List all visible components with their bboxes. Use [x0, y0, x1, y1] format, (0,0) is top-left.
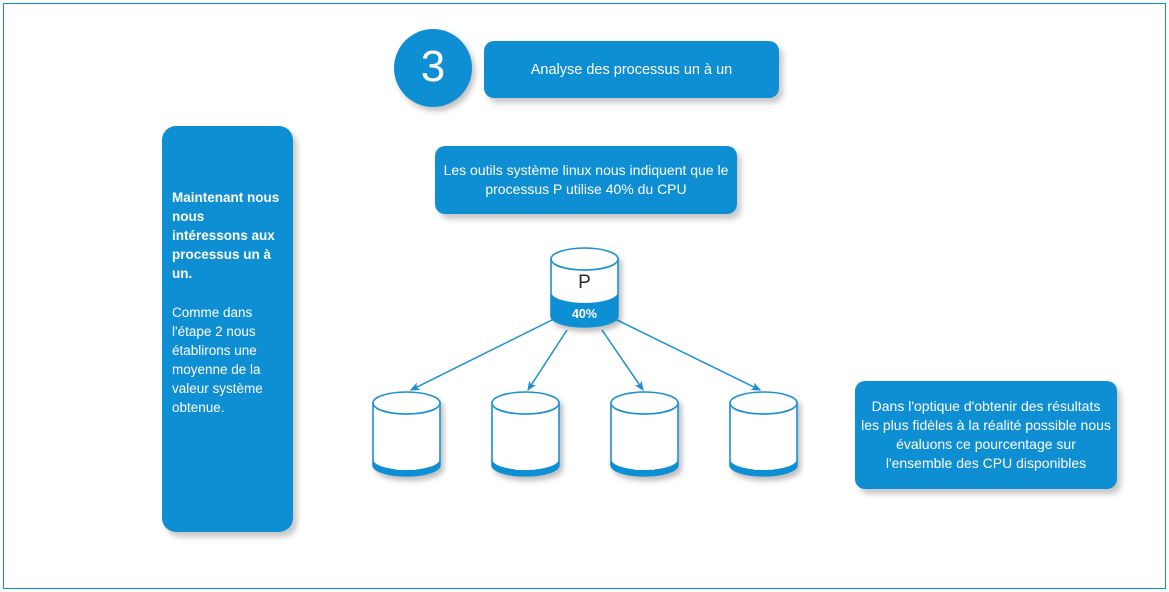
cylinder-child-2-fill-label: 10% [515, 461, 537, 473]
step-title-label: Analyse des processus un à un [519, 62, 745, 78]
sidebar-paragraph-bold: Maintenant nous nous intéressons aux pro… [172, 188, 283, 283]
arrow-to-child-2 [528, 330, 567, 390]
slide-canvas: P 40% 10% 10% 10% [0, 0, 1169, 592]
cylinder-child-1-top-rim [373, 392, 440, 414]
callout-right-box[interactable]: Dans l'optique d'obtenir des résultats l… [855, 381, 1117, 489]
cylinder-child-4-fill-label: 10% [753, 461, 775, 473]
sidebar-spacer [172, 283, 283, 303]
cylinder-parent-top-rim [551, 248, 618, 270]
cylinder-child-3-fill-label: 10% [634, 461, 656, 473]
callout-top-box[interactable]: Les outils système linux nous indiquent … [435, 146, 737, 214]
step-number-badge[interactable]: 3 [394, 29, 472, 107]
callout-top-label: Les outils système linux nous indiquent … [435, 161, 737, 199]
sidebar-note-panel[interactable]: Maintenant nous nous intéressons aux pro… [162, 126, 293, 532]
connector-arrows [411, 318, 760, 390]
step-number-label: 3 [394, 29, 472, 107]
step-title-banner[interactable]: Analyse des processus un à un [484, 41, 779, 98]
cylinder-parent-label: P [578, 272, 591, 293]
sidebar-paragraph-regular: Comme dans l'étape 2 nous établirons une… [172, 303, 283, 417]
arrow-to-child-3 [602, 330, 643, 390]
callout-right-label: Dans l'optique d'obtenir des résultats l… [855, 397, 1117, 473]
cylinder-parent-fill-label: 40% [572, 307, 597, 321]
cylinder-child-1-fill-label: 10% [396, 461, 418, 473]
cylinder-child-2-top-rim [492, 392, 559, 414]
cylinder-child-3-top-rim [611, 392, 678, 414]
cylinder-child-4-top-rim [730, 392, 797, 414]
